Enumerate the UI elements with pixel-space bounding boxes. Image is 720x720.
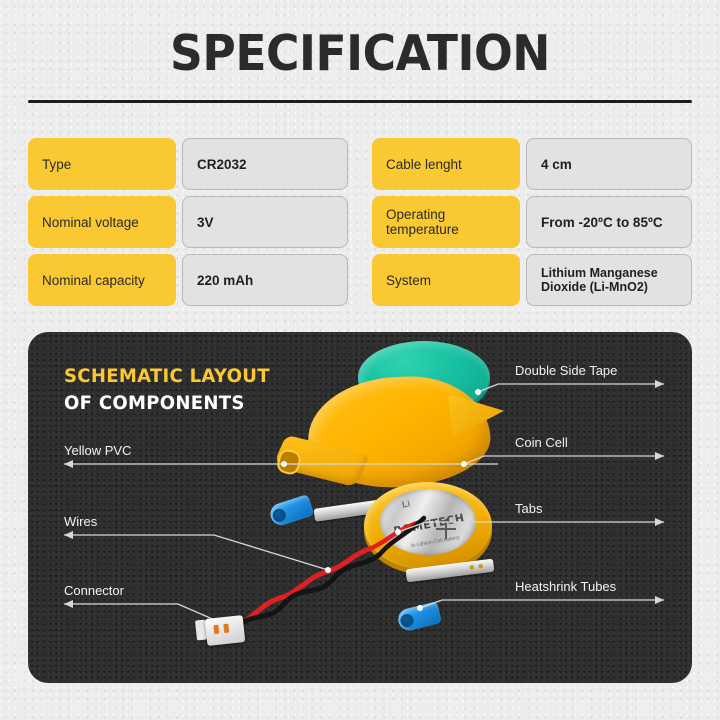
page-title: SPECIFICATION (25, 28, 695, 80)
callout-label-heatshrink-tubes: Heatshrink Tubes (515, 579, 616, 594)
callout-label-connector: Connector (64, 583, 124, 598)
spec-key: System (372, 254, 520, 306)
spec-value: 4 cm (526, 138, 692, 190)
spec-value: 3V (182, 196, 348, 248)
callout-label-double-side-tape: Double Side Tape (515, 363, 617, 378)
connector-pin (213, 625, 219, 634)
spec-column-left: Type CR2032 Nominal voltage 3V Nominal c… (28, 138, 348, 312)
connector-graphic (205, 615, 246, 646)
callout-label-coin-cell: Coin Cell (515, 435, 568, 450)
exploded-component-illustration: Li ROMETECH 3v Lithium Cell Battery (28, 332, 692, 683)
spec-key: Operating temperature (372, 196, 520, 248)
wires-and-leader-lines (28, 332, 692, 683)
spec-value: 220 mAh (182, 254, 348, 306)
table-row: Type CR2032 (28, 138, 348, 190)
table-row: Nominal capacity 220 mAh (28, 254, 348, 306)
spec-key: Cable lenght (372, 138, 520, 190)
title-divider (28, 100, 692, 103)
table-row: Nominal voltage 3V (28, 196, 348, 248)
table-row: System Lithium Manganese Dioxide (Li-MnO… (372, 254, 692, 306)
specification-infographic: SPECIFICATION Type CR2032 Nominal voltag… (0, 0, 720, 720)
connector-pin (223, 624, 229, 633)
spec-column-right: Cable lenght 4 cm Operating temperature … (372, 138, 692, 312)
spec-value: From -20ºC to 85ºC (526, 196, 692, 248)
table-row: Operating temperature From -20ºC to 85ºC (372, 196, 692, 248)
callout-label-wires: Wires (64, 514, 97, 529)
callout-label-yellow-pvc: Yellow PVC (64, 443, 131, 458)
spec-value: Lithium Manganese Dioxide (Li-MnO2) (526, 254, 692, 306)
spec-key: Nominal capacity (28, 254, 176, 306)
callout-label-tabs: Tabs (515, 501, 542, 516)
spec-key: Type (28, 138, 176, 190)
schematic-panel: SCHEMATIC LAYOUT OF COMPONENTS Li ROMETE… (28, 332, 692, 683)
table-row: Cable lenght 4 cm (372, 138, 692, 190)
spec-key: Nominal voltage (28, 196, 176, 248)
spec-value: CR2032 (182, 138, 348, 190)
